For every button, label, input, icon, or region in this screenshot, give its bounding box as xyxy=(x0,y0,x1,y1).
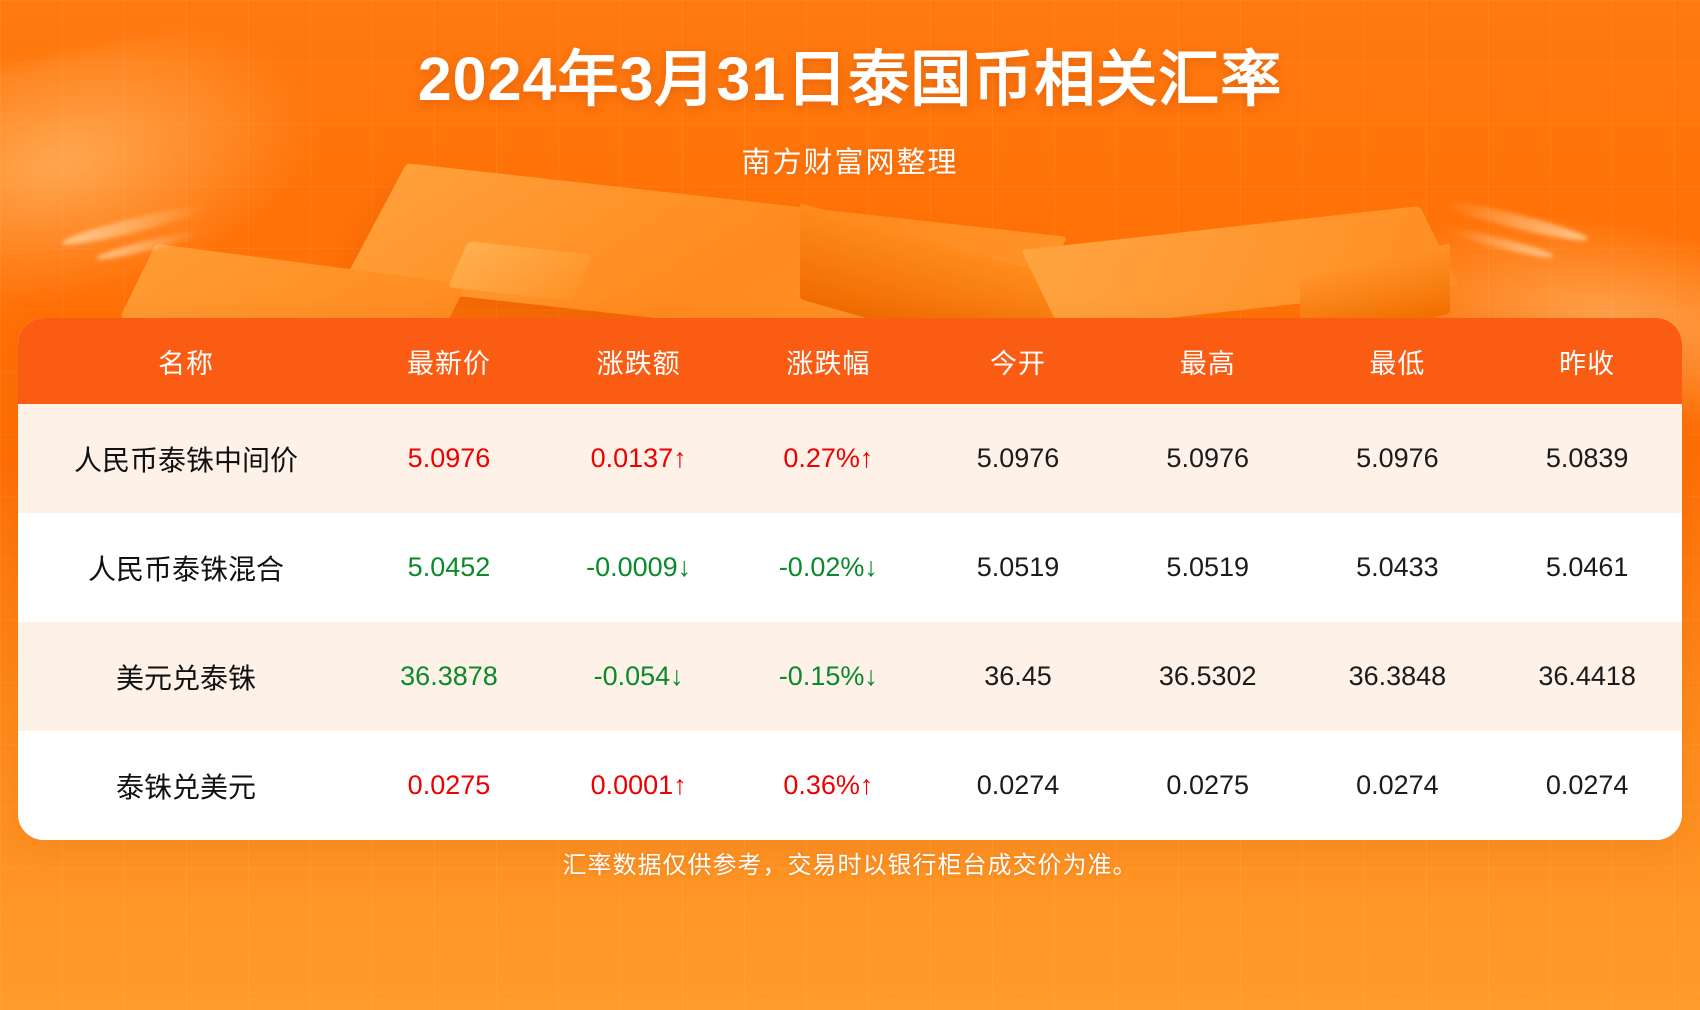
exchange-rate-table: 名称 最新价 涨跌额 涨跌幅 今开 最高 最低 昨收 人民币泰铢中间价 5.09… xyxy=(18,318,1682,840)
column-header-change-pct[interactable]: 涨跌幅 xyxy=(734,318,924,404)
cell-open: 0.0274 xyxy=(923,731,1113,840)
cell-last: 0.0275 xyxy=(354,731,544,840)
cell-name: 美元兑泰铢 xyxy=(18,622,354,731)
table-row[interactable]: 人民币泰铢混合 5.0452 -0.0009↓ -0.02%↓ 5.0519 5… xyxy=(18,513,1682,622)
table-row[interactable]: 美元兑泰铢 36.3878 -0.054↓ -0.15%↓ 36.45 36.5… xyxy=(18,622,1682,731)
cell-prev-close: 0.0274 xyxy=(1492,731,1682,840)
cell-prev-close: 5.0839 xyxy=(1492,404,1682,513)
cell-change: -0.054↓ xyxy=(544,622,734,731)
cell-prev-close: 5.0461 xyxy=(1492,513,1682,622)
table-row[interactable]: 人民币泰铢中间价 5.0976 0.0137↑ 0.27%↑ 5.0976 5.… xyxy=(18,404,1682,513)
column-header-change[interactable]: 涨跌额 xyxy=(544,318,734,404)
table-header-row: 名称 最新价 涨跌额 涨跌幅 今开 最高 最低 昨收 xyxy=(18,318,1682,404)
light-streak-icon xyxy=(61,200,210,250)
cell-change-pct: 0.27%↑ xyxy=(734,404,924,513)
cell-last: 5.0452 xyxy=(354,513,544,622)
cell-change: 0.0001↑ xyxy=(544,731,734,840)
page-title: 2024年3月31日泰国币相关汇率 xyxy=(0,0,1700,115)
cell-high: 36.5302 xyxy=(1113,622,1303,731)
cell-change-pct: -0.15%↓ xyxy=(734,622,924,731)
cell-change-pct: -0.02%↓ xyxy=(734,513,924,622)
footer-note: 汇率数据仅供参考，交易时以银行柜台成交价为准。 xyxy=(0,845,1700,880)
table-row[interactable]: 泰铢兑美元 0.0275 0.0001↑ 0.36%↑ 0.0274 0.027… xyxy=(18,731,1682,840)
cell-last: 5.0976 xyxy=(354,404,544,513)
page-subtitle: 南方财富网整理 xyxy=(0,115,1700,181)
column-header-prev-close[interactable]: 昨收 xyxy=(1492,318,1682,404)
cell-low: 5.0433 xyxy=(1303,513,1493,622)
cell-open: 5.0976 xyxy=(923,404,1113,513)
cell-change: 0.0137↑ xyxy=(544,404,734,513)
light-streak-icon xyxy=(1441,196,1590,246)
column-header-open[interactable]: 今开 xyxy=(923,318,1113,404)
cell-high: 0.0275 xyxy=(1113,731,1303,840)
cell-high: 5.0519 xyxy=(1113,513,1303,622)
cell-change-pct: 0.36%↑ xyxy=(734,731,924,840)
column-header-name[interactable]: 名称 xyxy=(18,318,354,404)
cell-low: 36.3848 xyxy=(1303,622,1493,731)
exchange-rate-card: 名称 最新价 涨跌额 涨跌幅 今开 最高 最低 昨收 人民币泰铢中间价 5.09… xyxy=(18,318,1682,840)
column-header-high[interactable]: 最高 xyxy=(1113,318,1303,404)
cell-high: 5.0976 xyxy=(1113,404,1303,513)
cell-low: 5.0976 xyxy=(1303,404,1493,513)
cell-low: 0.0274 xyxy=(1303,731,1493,840)
cell-change: -0.0009↓ xyxy=(544,513,734,622)
cell-open: 5.0519 xyxy=(923,513,1113,622)
cell-name: 人民币泰铢中间价 xyxy=(18,404,354,513)
table-body: 人民币泰铢中间价 5.0976 0.0137↑ 0.27%↑ 5.0976 5.… xyxy=(18,404,1682,840)
column-header-last[interactable]: 最新价 xyxy=(354,318,544,404)
cell-last: 36.3878 xyxy=(354,622,544,731)
page-header: 2024年3月31日泰国币相关汇率 南方财富网整理 xyxy=(0,0,1700,181)
cell-name: 泰铢兑美元 xyxy=(18,731,354,840)
cell-open: 36.45 xyxy=(923,622,1113,731)
cell-name: 人民币泰铢混合 xyxy=(18,513,354,622)
cell-prev-close: 36.4418 xyxy=(1492,622,1682,731)
column-header-low[interactable]: 最低 xyxy=(1303,318,1493,404)
